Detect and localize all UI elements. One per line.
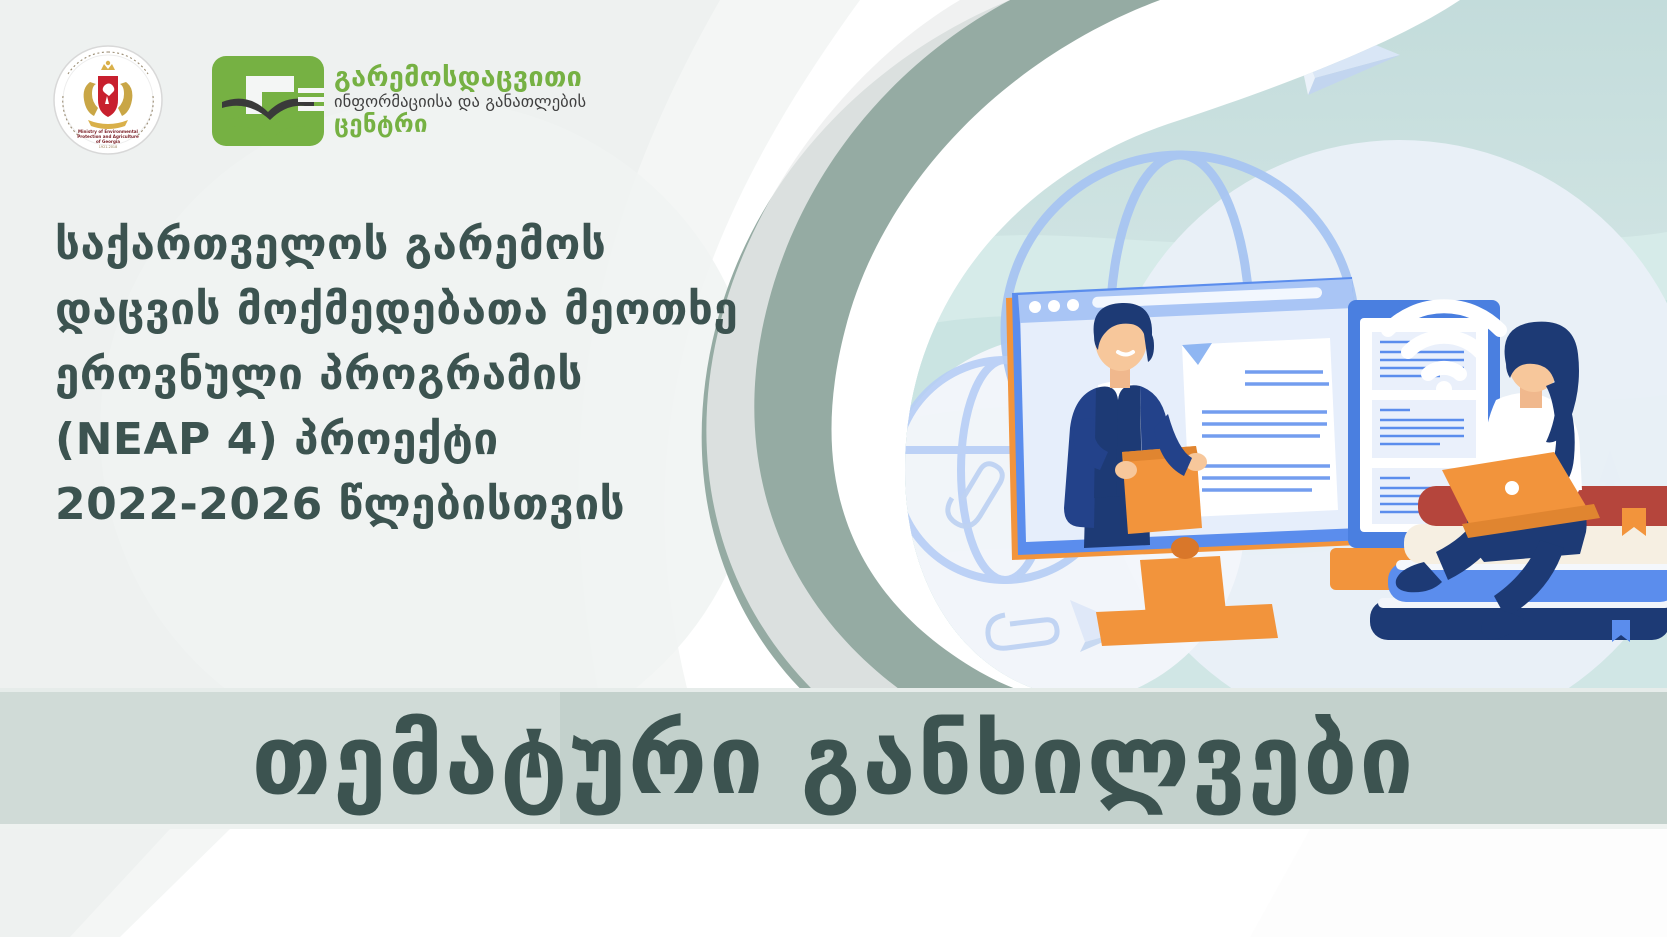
ministry-seal: Ministry of Environmental Protection and… — [52, 44, 164, 156]
banner-title: თემატური განხილვები — [0, 692, 1667, 828]
gec-logo-line2: ინფორმაციისა და განათლების — [334, 94, 586, 111]
headline-line-3: ეროვნული პროგრამის — [55, 342, 755, 407]
gec-logo-mark — [212, 50, 324, 150]
ministry-seal-graphic: Ministry of Environmental Protection and… — [52, 44, 164, 156]
seal-caption-line4: 1921-2018 — [99, 145, 117, 149]
gec-logo-line1: გარემოსდაცვითი — [334, 64, 586, 91]
gec-logo-text: გარემოსდაცვითი ინფორმაციისა და განათლები… — [334, 64, 586, 136]
seal-caption-line3: of Georgia — [96, 139, 120, 144]
gec-logo: გარემოსდაცვითი ინფორმაციისა და განათლები… — [212, 50, 586, 150]
poster-headline: საქართველოს გარემოს დაცვის მოქმედებათა მ… — [55, 212, 755, 538]
logo-row: Ministry of Environmental Protection and… — [52, 44, 586, 156]
headline-line-5: 2022-2026 წლებისთვის — [55, 472, 755, 537]
open-book-in-green-square-icon — [212, 50, 324, 150]
poster-canvas: Ministry of Environmental Protection and… — [0, 0, 1667, 937]
gec-logo-line3: ცენტრი — [334, 112, 586, 136]
headline-line-2: დაცვის მოქმედებათა მეოთხე — [55, 277, 755, 342]
headline-line-4: (NEAP 4) პროექტი — [55, 407, 755, 472]
headline-line-1: საქართველოს გარემოს — [55, 212, 755, 277]
